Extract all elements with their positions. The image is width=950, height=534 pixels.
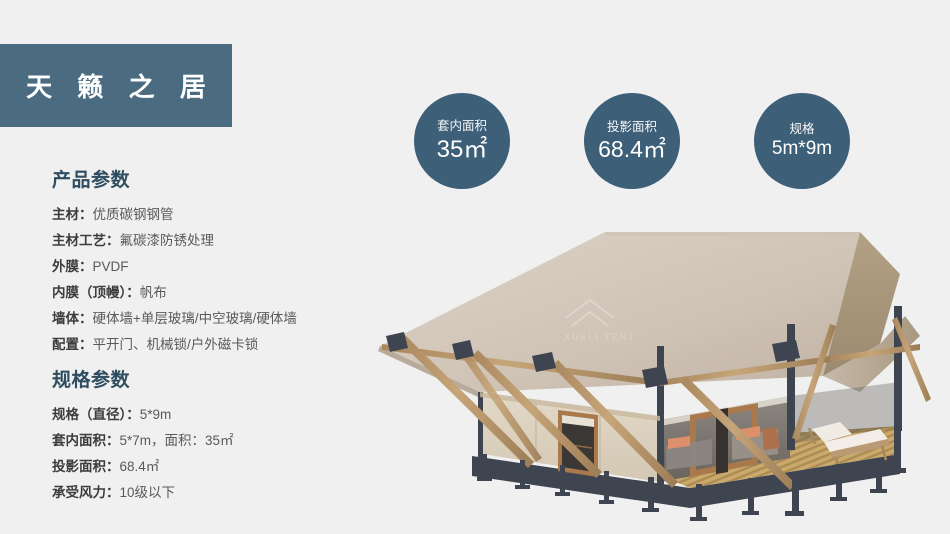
spec-label: 主材工艺： [52,233,120,248]
badge-interior-area: 套内面积 35㎡ [414,93,510,189]
spec-label: 投影面积： [52,459,120,474]
spec-row: 套内面积：5*7m，面积：35㎡ [52,428,382,454]
spec-label: 规格（直径）： [52,407,140,422]
spec-row: 主材：优质碳钢钢管 [52,202,382,228]
specification-parameters-section: 规格参数 规格（直径）：5*9m 套内面积：5*7m，面积：35㎡ 投影面积：6… [52,365,382,506]
spec-value: 10级以下 [120,485,176,500]
spec-value: 5*9m [140,407,172,422]
spec-row: 承受风力：10级以下 [52,480,382,506]
badge-value: 35㎡ [437,137,488,162]
spec-label: 配置： [52,337,93,352]
spec-label: 墙体： [52,311,93,326]
badge-label: 投影面积 [607,121,657,135]
specification-parameters-heading: 规格参数 [52,365,382,392]
spec-row: 外膜：PVDF [52,254,382,280]
spec-value: 平开门、机械锁/户外磁卡锁 [93,337,259,352]
spec-row: 主材工艺：氟碳漆防锈处理 [52,228,382,254]
tent-house-render [360,196,950,534]
spec-label: 主材： [52,207,93,222]
badge-dimensions: 规格 5m*9m [754,93,850,189]
spec-label: 内膜（顶幔）： [52,285,140,300]
product-spec-page: 天 籁 之 居 产品参数 主材：优质碳钢钢管 主材工艺：氟碳漆防锈处理 外膜：P… [0,0,950,534]
spec-row: 内膜（顶幔）：帆布 [52,280,382,306]
spec-label: 承受风力： [52,485,120,500]
badge-label: 规格 [789,123,814,137]
badge-value: 68.4㎡ [598,137,666,161]
badge-label: 套内面积 [437,120,487,134]
spec-value: PVDF [93,259,129,274]
spec-value: 5*7m，面积：35㎡ [120,433,234,448]
product-parameters-section: 产品参数 主材：优质碳钢钢管 主材工艺：氟碳漆防锈处理 外膜：PVDF 内膜（顶… [52,165,382,358]
spec-row: 配置：平开门、机械锁/户外磁卡锁 [52,332,382,358]
page-title: 天 籁 之 居 [17,67,215,104]
spec-label: 套内面积： [52,433,120,448]
spec-value: 帆布 [140,285,167,300]
spec-row: 规格（直径）：5*9m [52,402,382,428]
badge-value: 5m*9m [772,139,832,159]
spec-value: 硬体墙+单层玻璃/中空玻璃/硬体墙 [93,311,297,326]
spec-value: 氟碳漆防锈处理 [120,233,215,248]
product-parameters-heading: 产品参数 [52,165,382,192]
spec-value: 68.4㎡ [120,459,160,474]
spec-row: 墙体：硬体墙+单层玻璃/中空玻璃/硬体墙 [52,306,382,332]
spec-row: 投影面积：68.4㎡ [52,454,382,480]
title-banner: 天 籁 之 居 [0,44,232,127]
badge-projected-area: 投影面积 68.4㎡ [584,93,680,189]
spec-value: 优质碳钢钢管 [93,207,174,222]
spec-label: 外膜： [52,259,93,274]
